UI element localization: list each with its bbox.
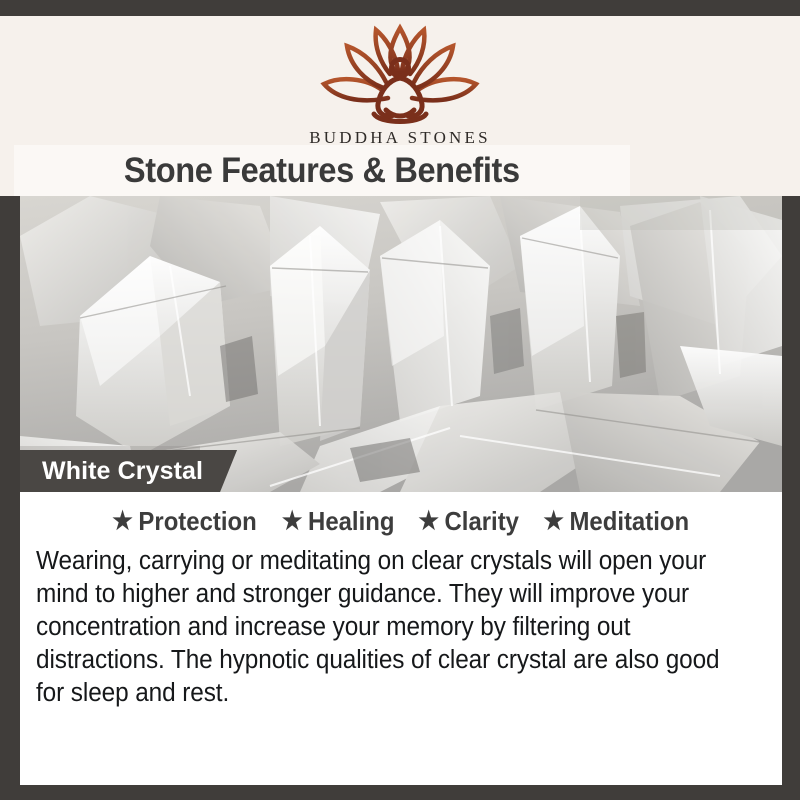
brand-logo: BUDDHA STONES [0, 22, 800, 148]
frame-band-bottom [0, 785, 800, 800]
stone-name-label: White Crystal [42, 457, 203, 486]
star-icon: ★ [282, 509, 303, 534]
benefit-label: Protection [139, 506, 257, 537]
benefit-item: ★ Clarity [418, 506, 519, 537]
benefit-item: ★ Protection [113, 506, 257, 537]
frame-band-left [0, 196, 20, 785]
white-crystal-cluster-photo [20, 196, 782, 492]
page-title: Stone Features & Benefits [124, 151, 520, 191]
star-icon: ★ [113, 509, 134, 534]
benefit-item: ★ Healing [282, 506, 395, 537]
benefit-label: Clarity [444, 506, 518, 537]
title-band: Stone Features & Benefits [14, 145, 630, 196]
benefit-label: Healing [308, 506, 394, 537]
star-icon: ★ [543, 509, 564, 534]
benefits-row: ★ Protection ★ Healing ★ Clarity ★ Medit… [20, 492, 782, 537]
frame-band-right [782, 196, 800, 785]
infographic-card: BUDDHA STONES Stone Features & Benefits [0, 0, 800, 800]
benefit-item: ★ Meditation [543, 506, 689, 537]
lotus-meditation-icon [310, 22, 490, 126]
stone-name-plate: White Crystal [20, 450, 237, 492]
content-panel: ★ Protection ★ Healing ★ Clarity ★ Medit… [20, 492, 782, 785]
header: BUDDHA STONES Stone Features & Benefits [0, 16, 800, 196]
star-icon: ★ [418, 509, 439, 534]
description-text: Wearing, carrying or meditating on clear… [36, 545, 733, 710]
frame-band-top [0, 0, 800, 16]
benefit-label: Meditation [570, 506, 690, 537]
